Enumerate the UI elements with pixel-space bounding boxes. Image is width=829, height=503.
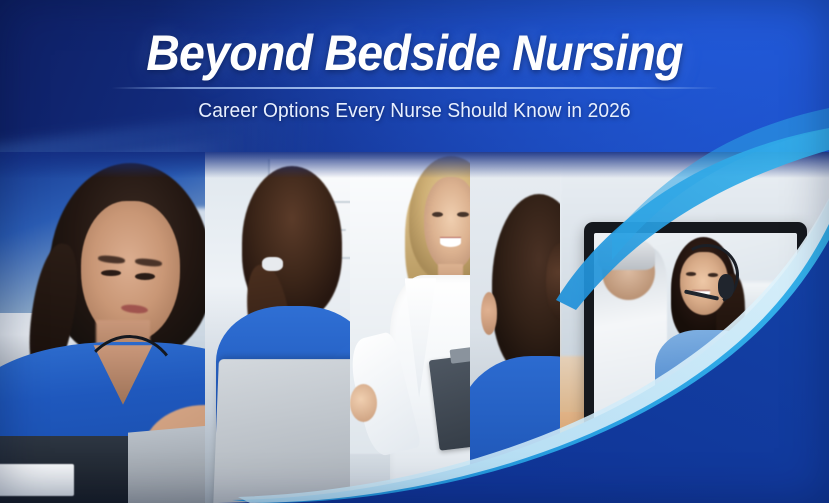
laptop-keyboard [573,438,815,462]
photo-collage [0,152,829,503]
nursing-career-banner: Beyond Bedside Nursing Career Options Ev… [0,0,829,503]
photo-telehealth-laptop [560,152,829,503]
laptop-screen [594,233,797,420]
laptop-lid [584,222,807,440]
